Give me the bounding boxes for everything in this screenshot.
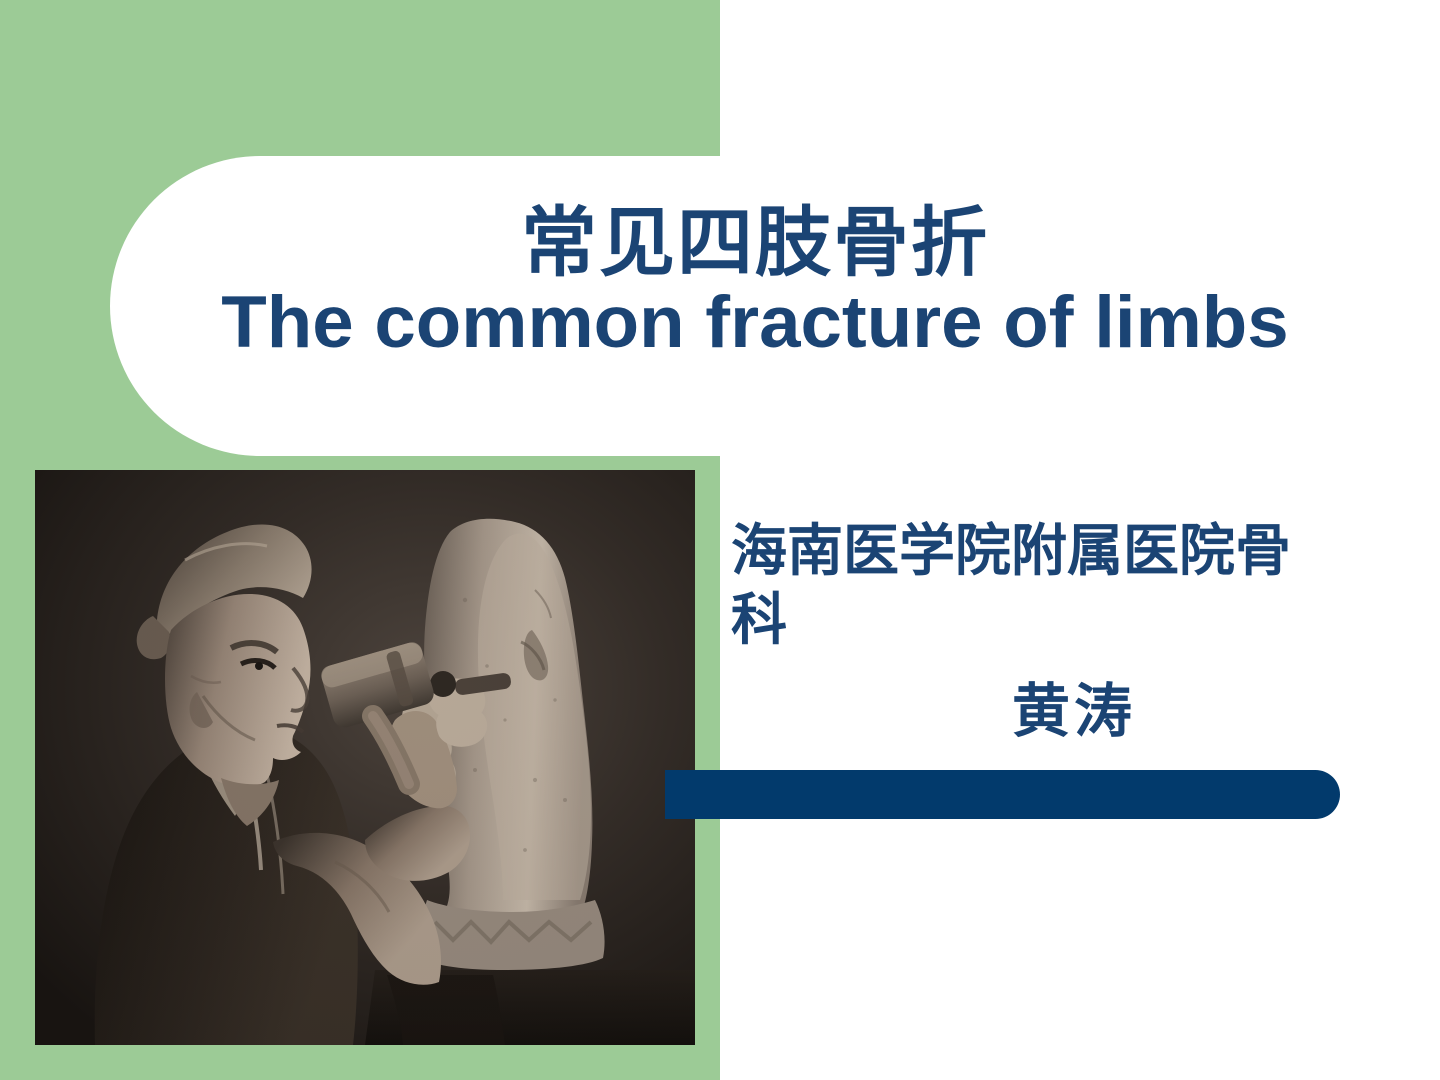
affiliation-text: 海南医学院附属医院骨科	[731, 518, 1331, 657]
presenter-name: 黄涛	[1012, 664, 1136, 748]
presentation-slide: 常见四肢骨折 The common fracture of limbs	[0, 0, 1440, 1080]
accent-bar	[665, 770, 1340, 819]
subtitle-affiliation: 海南医学院附属医院骨科	[731, 518, 1331, 657]
sculptor-photo-graphic	[35, 470, 695, 1045]
title-chinese: 常见四肢骨折	[110, 206, 1400, 284]
slide-title: 常见四肢骨折 The common fracture of limbs	[110, 206, 1400, 360]
sculptor-photo	[35, 470, 695, 1045]
title-english: The common fracture of limbs	[97, 286, 1413, 360]
